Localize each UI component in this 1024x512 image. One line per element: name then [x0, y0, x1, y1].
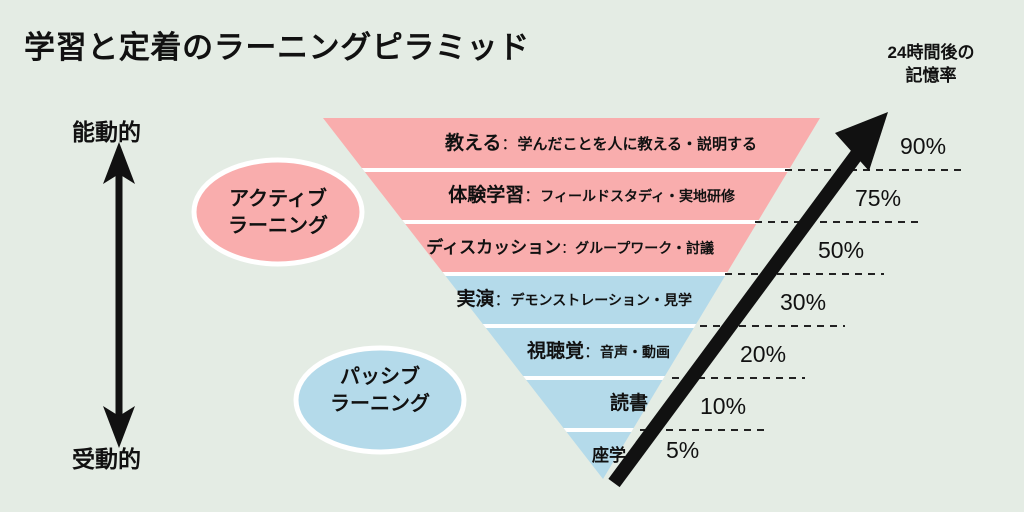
- percent-label-6: 5%: [666, 437, 699, 464]
- retention-caption: 24時間後の 記憶率: [856, 42, 1006, 88]
- axis-label-active: 能動的: [72, 113, 141, 147]
- bubble-active-learning-label: アクティブ ラーニング: [198, 186, 358, 240]
- axis-label-passive: 受動的: [72, 440, 141, 474]
- pyramid-row-label-0: 教える：学んだことを人に教える・説明する: [445, 129, 757, 160]
- row-separator-2: ：: [561, 240, 575, 256]
- pyramid-row-label-3: 実演：デモンストレーション・見学: [457, 285, 692, 316]
- row-separator-3: ：: [495, 292, 511, 309]
- row-key-0: 教える: [445, 133, 501, 154]
- row-separator-1: ：: [524, 188, 540, 205]
- row-detail-4: 音声・動画: [600, 344, 670, 360]
- bubble-active-line1: アクティブ: [198, 186, 358, 213]
- pyramid-row-label-6: 座学: [592, 441, 626, 472]
- bubble-passive-line1: パッシブ: [305, 364, 455, 391]
- pyramid-row-label-2: ディスカッション：グループワーク・討議: [426, 233, 714, 264]
- row-detail-3: デモンストレーション・見学: [511, 292, 692, 308]
- pyramid-row-label-4: 視聴覚：音声・動画: [527, 337, 670, 368]
- retention-caption-line2: 記憶率: [856, 65, 1006, 88]
- percent-label-4: 20%: [740, 341, 786, 368]
- bubble-passive-learning-label: パッシブ ラーニング: [305, 364, 455, 418]
- pyramid-row-label-1: 体験学習：フィールドスタディ・実地研修: [448, 181, 735, 212]
- row-separator-4: ：: [584, 344, 600, 361]
- pyramid-row-label-5: 読書: [610, 389, 648, 420]
- row-key-2: ディスカッション: [426, 238, 561, 257]
- row-detail-0: 学んだことを人に教える・説明する: [517, 136, 757, 153]
- page-title: 学習と定着のラーニングピラミッド: [24, 22, 530, 67]
- retention-caption-line1: 24時間後の: [856, 42, 1006, 65]
- percent-label-0: 90%: [900, 133, 946, 160]
- row-key-5: 読書: [610, 393, 648, 414]
- percent-label-3: 30%: [780, 289, 826, 316]
- row-detail-1: フィールドスタディ・実地研修: [540, 188, 735, 204]
- row-key-3: 実演: [457, 289, 495, 310]
- percent-label-5: 10%: [700, 393, 746, 420]
- row-detail-2: グループワーク・討議: [575, 240, 714, 256]
- row-key-4: 視聴覚: [527, 341, 584, 362]
- row-separator-0: ：: [501, 136, 517, 153]
- percent-label-2: 50%: [818, 237, 864, 264]
- active-passive-double-arrow: [103, 142, 135, 448]
- row-key-6: 座学: [592, 446, 626, 465]
- bubble-active-line2: ラーニング: [198, 213, 358, 240]
- row-key-1: 体験学習: [448, 185, 524, 206]
- percent-label-1: 75%: [855, 185, 901, 212]
- infographic-canvas: 学習と定着のラーニングピラミッド 24時間後の 記憶率 能動的 受動的 アクティ…: [0, 0, 1024, 512]
- bubble-passive-line2: ラーニング: [305, 391, 455, 418]
